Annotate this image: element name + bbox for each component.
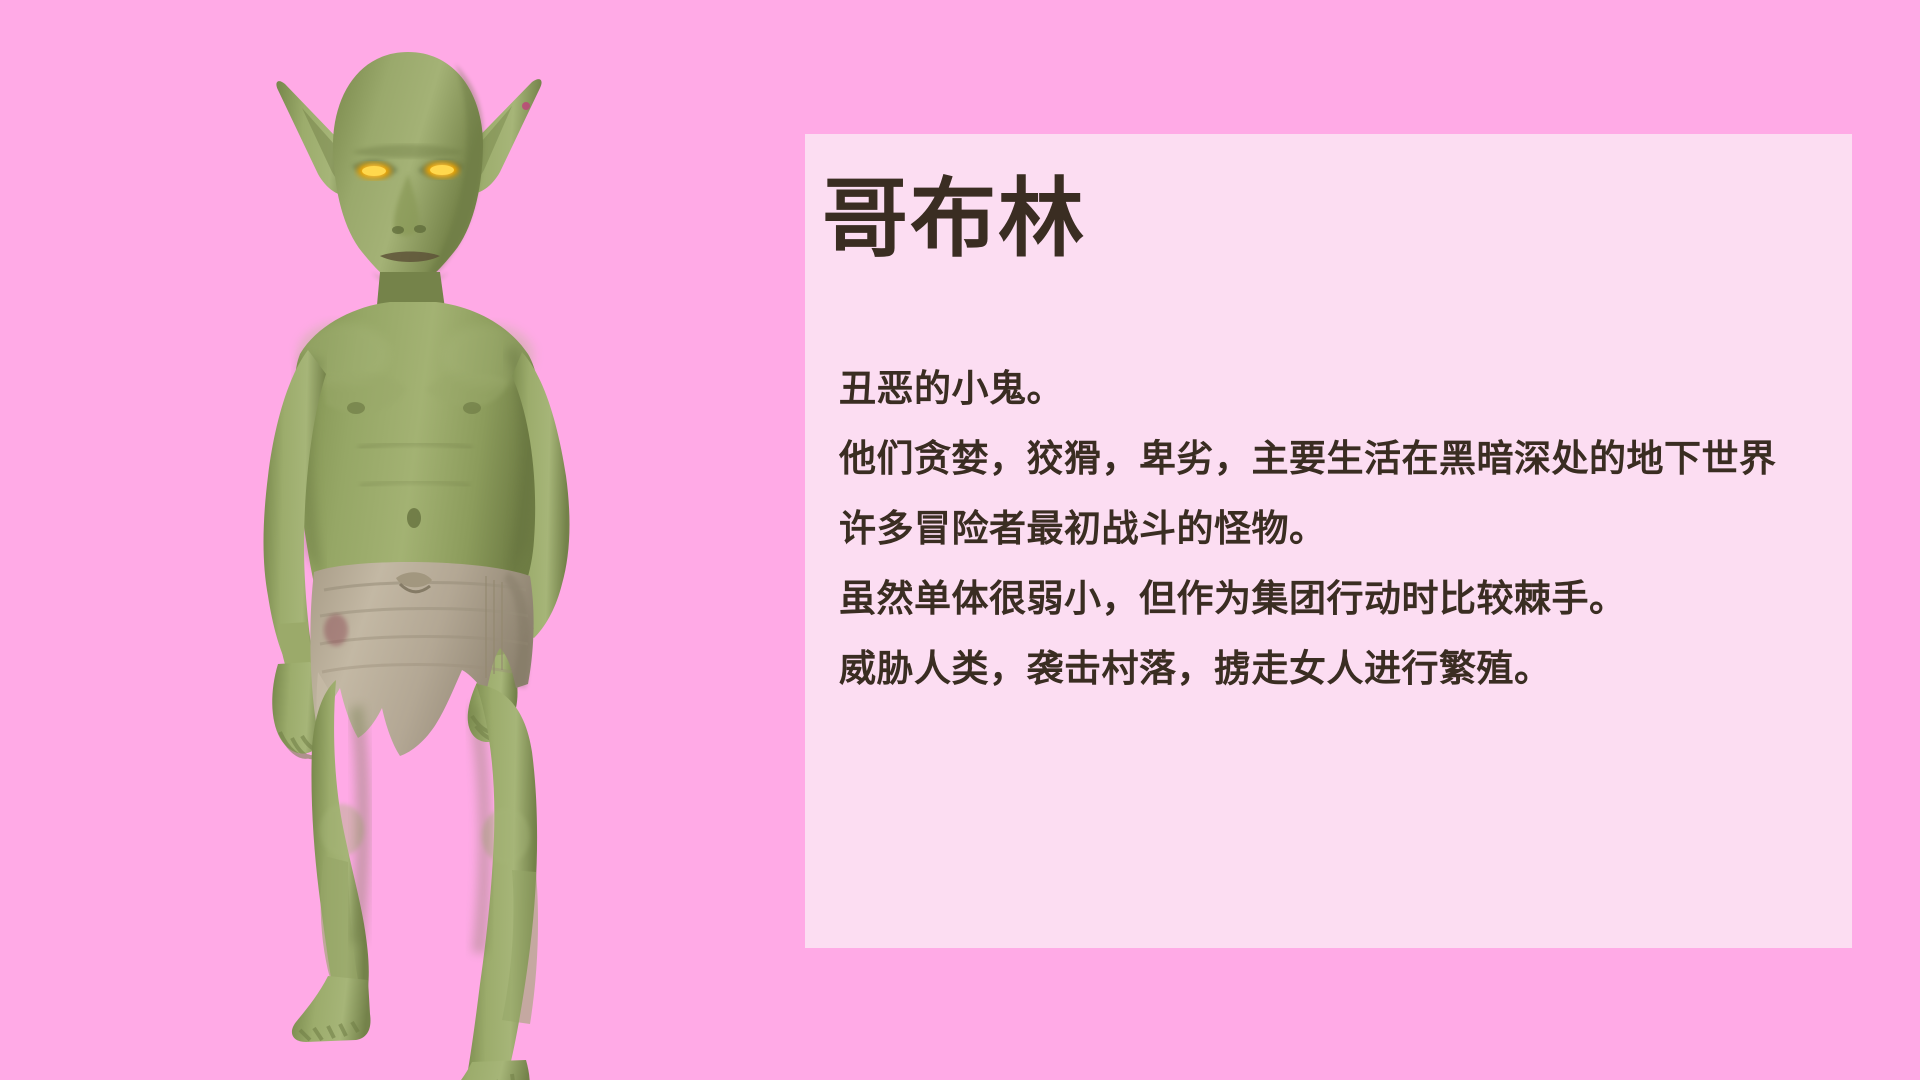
goblin-head bbox=[333, 52, 484, 287]
monster-info-panel: 哥布林 丑恶的小鬼。 他们贪婪，狡猾，卑劣，主要生活在黑暗深处的地下世界 许多冒… bbox=[805, 134, 1852, 948]
goblin-legs bbox=[292, 680, 538, 1080]
goblin-character-image bbox=[240, 24, 700, 1080]
monster-name-title: 哥布林 bbox=[822, 176, 1086, 262]
goblin-ears bbox=[276, 79, 541, 197]
description-line: 他们贪婪，狡猾，卑劣，主要生活在黑暗深处的地下世界 bbox=[839, 424, 1899, 494]
goblin-loincloth bbox=[310, 562, 533, 776]
description-line: 许多冒险者最初战斗的怪物。 bbox=[839, 494, 1899, 564]
description-line: 虽然单体很弱小，但作为集团行动时比较棘手。 bbox=[839, 564, 1899, 634]
goblin-glowing-eyes bbox=[357, 162, 459, 179]
goblin-arms bbox=[264, 350, 570, 757]
goblin-torso bbox=[294, 272, 544, 584]
screen-root: 哥布林 丑恶的小鬼。 他们贪婪，狡猾，卑劣，主要生活在黑暗深处的地下世界 许多冒… bbox=[0, 0, 1920, 1080]
monster-description-block: 丑恶的小鬼。 他们贪婪，狡猾，卑劣，主要生活在黑暗深处的地下世界 许多冒险者最初… bbox=[839, 354, 1899, 704]
description-line: 丑恶的小鬼。 bbox=[839, 354, 1899, 424]
description-line: 威胁人类，袭击村落，掳走女人进行繁殖。 bbox=[839, 634, 1899, 704]
